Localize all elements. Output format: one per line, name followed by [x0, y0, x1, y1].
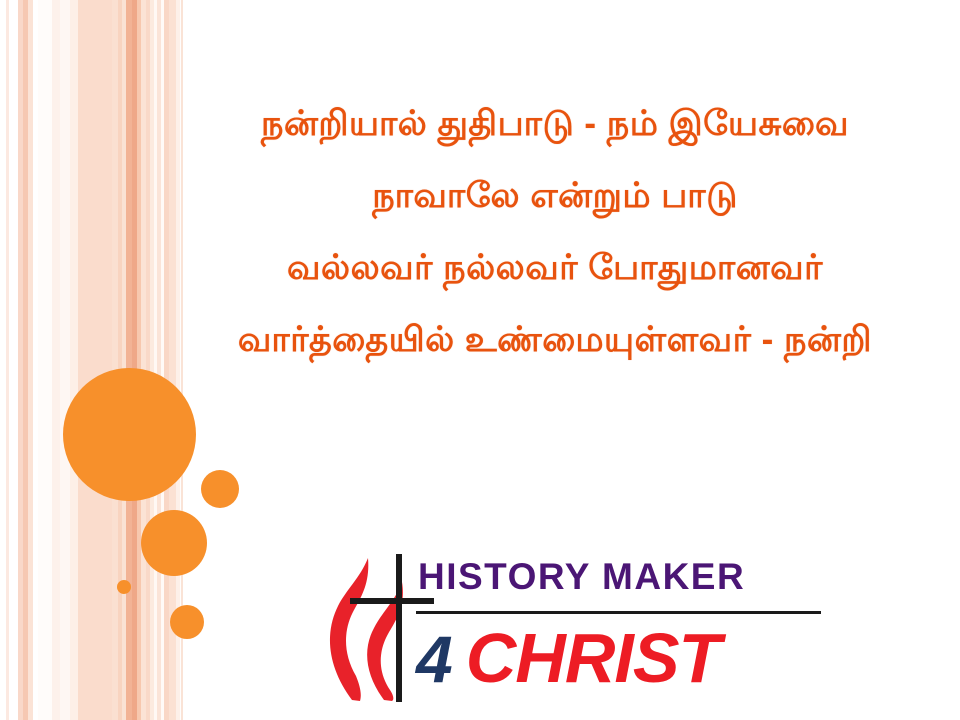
lyric-line-4: வார்த்தையில் உண்மையுள்ளவர் - நன்றி	[150, 304, 960, 376]
decorative-stripe-3	[28, 0, 33, 720]
lyric-line-3: வல்லவர் நல்லவர் போதுமானவர்	[150, 232, 960, 304]
logo-divider-rule	[416, 611, 821, 614]
lyric-line-2: நாவாலே என்றும் பாடு	[150, 160, 960, 232]
decorative-stripe-5	[52, 0, 60, 720]
logo-bottom-line: 4CHRIST	[416, 618, 720, 699]
decorative-stripe-8	[78, 0, 112, 720]
lyrics-block: நன்றியால் துதிபாடு - நம் இயேசுவை நாவாலே …	[150, 88, 960, 376]
history-maker-4-christ-logo: HISTORY MAKER 4CHRIST	[322, 548, 822, 708]
lyric-line-1: நன்றியால் துதிபாடு - நம் இயேசுவை	[150, 88, 960, 160]
decorative-stripe-4	[38, 0, 52, 720]
decorative-stripe-7	[70, 0, 78, 720]
decorative-stripe-0	[6, 0, 9, 720]
circle-large	[63, 368, 196, 501]
logo-number-four: 4	[416, 622, 452, 696]
circle-medium	[141, 510, 207, 576]
logo-christ-text: CHRIST	[466, 619, 721, 697]
circle-small-a	[201, 470, 239, 508]
circle-tiny	[117, 580, 131, 594]
slide-canvas: நன்றியால் துதிபாடு - நம் இயேசுவை நாவாலே …	[0, 0, 960, 720]
circle-small-b	[170, 605, 204, 639]
logo-top-text: HISTORY MAKER	[418, 553, 745, 601]
logo-wordmark: HISTORY MAKER 4CHRIST	[416, 548, 828, 703]
decorative-stripe-6	[60, 0, 70, 720]
